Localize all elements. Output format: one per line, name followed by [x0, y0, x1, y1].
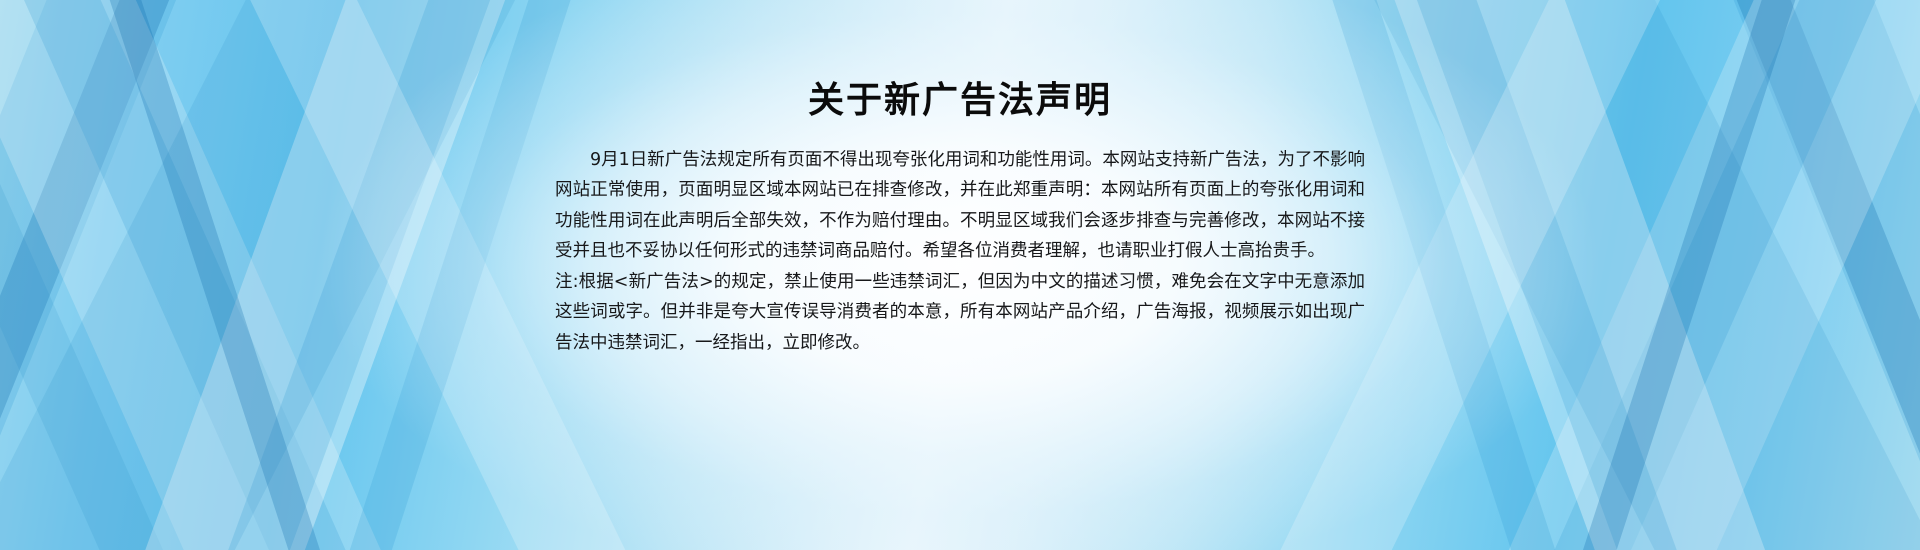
decorative-ribbon: [0, 0, 248, 550]
decorative-ribbon: [1656, 0, 1920, 550]
decorative-ribbon: [1659, 0, 1920, 550]
decorative-ribbon: [153, 0, 565, 550]
decorative-ribbon: [0, 0, 584, 550]
decorative-ribbon: [0, 0, 250, 550]
decorative-ribbon: [0, 0, 455, 550]
decorative-ribbon: [0, 0, 429, 550]
decorative-ribbon: [1471, 0, 1920, 550]
statement-note-paragraph: 注:根据<新广告法>的规定，禁止使用一些违禁词汇，但因为中文的描述习惯，难免会在…: [555, 267, 1365, 358]
advertising-law-statement-banner: 关于新广告法声明 9月1日新广告法规定所有页面不得出现夸张化用词和功能性用词。本…: [0, 0, 1920, 550]
decorative-ribbon: [1342, 0, 1752, 550]
decorative-ribbon: [76, 0, 574, 550]
decorative-ribbon: [1326, 0, 1834, 550]
statement-body-paragraph: 9月1日新广告法规定所有页面不得出现夸张化用词和功能性用词。本网站支持新广告法，…: [555, 145, 1365, 267]
decorative-ribbon: [1306, 0, 1920, 550]
statement-content: 关于新广告法声明 9月1日新广告法规定所有页面不得出现夸张化用词和功能性用词。本…: [555, 0, 1365, 550]
decorative-ribbon: [1436, 0, 1920, 550]
decorative-ribbon: [39, 0, 390, 550]
decorative-ribbon: [1512, 0, 1865, 550]
page-title: 关于新广告法声明: [555, 78, 1365, 123]
decorative-ribbon: [0, 0, 251, 550]
